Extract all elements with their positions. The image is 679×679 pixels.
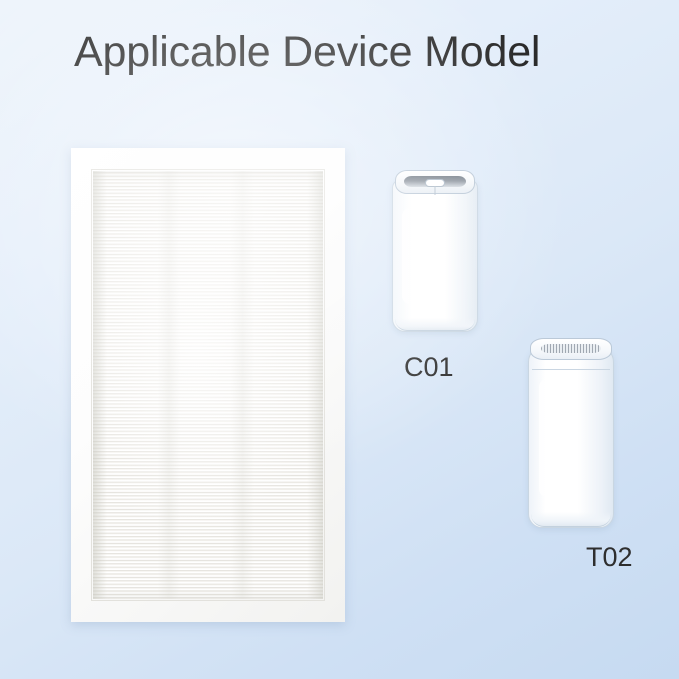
hepa-filter-image — [71, 148, 345, 622]
air-purifier-t02-image — [528, 338, 612, 526]
filter-pleats — [93, 171, 323, 599]
c01-body — [392, 179, 478, 332]
t02-top-vent — [530, 338, 612, 360]
c01-base — [395, 318, 475, 331]
t02-highlight — [539, 379, 559, 497]
filter-highlight — [93, 171, 323, 599]
model-label-t02: T02 — [586, 542, 633, 573]
model-label-c01: C01 — [404, 352, 454, 383]
air-purifier-c01-image — [392, 170, 476, 330]
t02-top-ring — [532, 369, 610, 370]
c01-highlight — [402, 208, 424, 304]
page-title: Applicable Device Model — [74, 31, 540, 74]
t02-base — [531, 512, 611, 527]
t02-body — [528, 346, 614, 528]
product-image-canvas: Applicable Device Model C01 T02 — [0, 0, 679, 679]
t02-vent-grille — [541, 344, 601, 353]
c01-top-vent — [395, 170, 475, 194]
c01-vent-seam — [435, 186, 436, 195]
